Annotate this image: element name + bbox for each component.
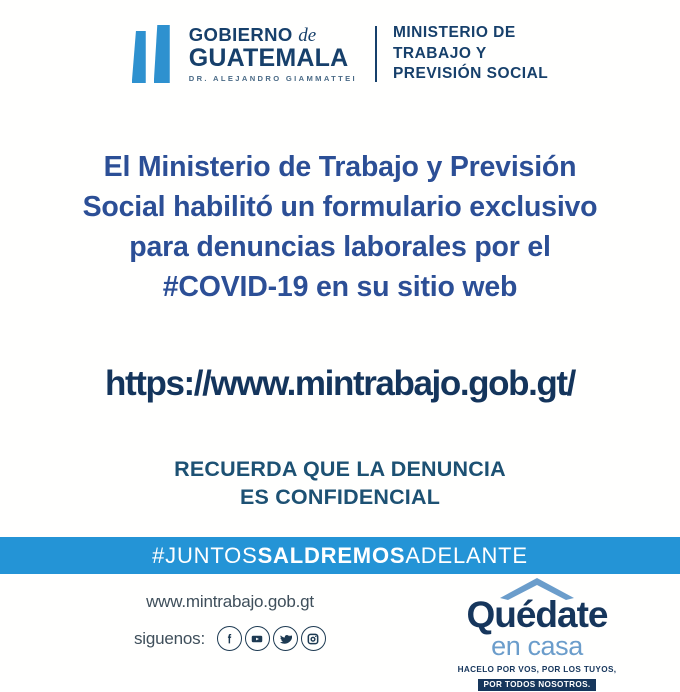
confidentiality-line-2: ES CONFIDENCIAL [0,483,680,511]
gobierno-logo-wordmark: GOBIERNO de GUATEMALA DR. ALEJANDRO GIAM… [189,26,357,83]
headline-message: El Ministerio de Trabajo y Previsión Soc… [0,148,680,308]
confidentiality-notice: RECUERDA QUE LA DENUNCIA ES CONFIDENCIAL [0,455,680,512]
ministry-line-3: PREVISIÓN SOCIAL [393,64,548,84]
headline-line-4: #COVID-19 en su sitio web [0,268,680,308]
gobierno-line: GOBIERNO de [189,26,357,45]
headline-line-1: El Ministerio de Trabajo y Previsión [0,148,680,188]
social-icon-list [217,626,326,651]
campaign-hashtag-banner: #JUNTOSSALDREMOSADELANTE [0,537,680,574]
headline-line-2: Social habilitó un formulario exclusivo [0,188,680,228]
president-name: DR. ALEJANDRO GIAMMATTEI [189,75,357,83]
gobierno-de-guatemala-logo: GOBIERNO de GUATEMALA DR. ALEJANDRO GIAM… [132,25,357,83]
quedate-en-casa-logo: Quédate en casa HACELO POR VOS, POR LOS … [432,578,642,692]
hashtag-prefix: #JUNTOS [152,543,257,568]
quedate-sub-words: en casa [432,633,642,660]
hashtag-bold: SALDREMOS [258,543,406,568]
follow-us-label: siguenos: [134,629,205,649]
follow-us-row: siguenos: [60,626,400,651]
ministry-name: MINISTERIO DE TRABAJO Y PREVISIÓN SOCIAL [393,23,548,84]
headline-line-3: para denuncias laborales por el [0,228,680,268]
gobierno-word: GOBIERNO [189,24,293,45]
footer-contact-block: www.mintrabajo.gob.gt siguenos: [60,592,400,651]
twitter-icon[interactable] [273,626,298,651]
guatemala-word: GUATEMALA [189,46,357,71]
poster-canvas: GOBIERNO de GUATEMALA DR. ALEJANDRO GIAM… [0,0,680,680]
guatemala-flag-bars-icon [132,25,178,83]
gobierno-de-word: de [298,25,316,46]
quedate-tagline-line-2: POR TODOS NOSOTROS. [478,679,595,692]
confidentiality-line-1: RECUERDA QUE LA DENUNCIA [0,455,680,483]
hashtag-suffix: ADELANTE [405,543,528,568]
quedate-tagline-line-1: HACELO POR VOS, POR LOS TUYOS, [432,665,642,674]
campaign-hashtag: #JUNTOSSALDREMOSADELANTE [152,543,528,569]
house-roof-icon [500,578,574,600]
footer-website[interactable]: www.mintrabajo.gob.gt [60,592,400,612]
facebook-icon[interactable] [217,626,242,651]
youtube-icon[interactable] [245,626,270,651]
header-divider [375,26,377,82]
quedate-main-word: Quédate [432,598,642,632]
ministry-line-1: MINISTERIO DE [393,23,548,43]
instagram-icon[interactable] [301,626,326,651]
ministry-line-2: TRABAJO Y [393,44,548,64]
website-url-link[interactable]: https://www.mintrabajo.gob.gt/ [0,364,680,404]
poster-header: GOBIERNO de GUATEMALA DR. ALEJANDRO GIAM… [0,18,680,90]
